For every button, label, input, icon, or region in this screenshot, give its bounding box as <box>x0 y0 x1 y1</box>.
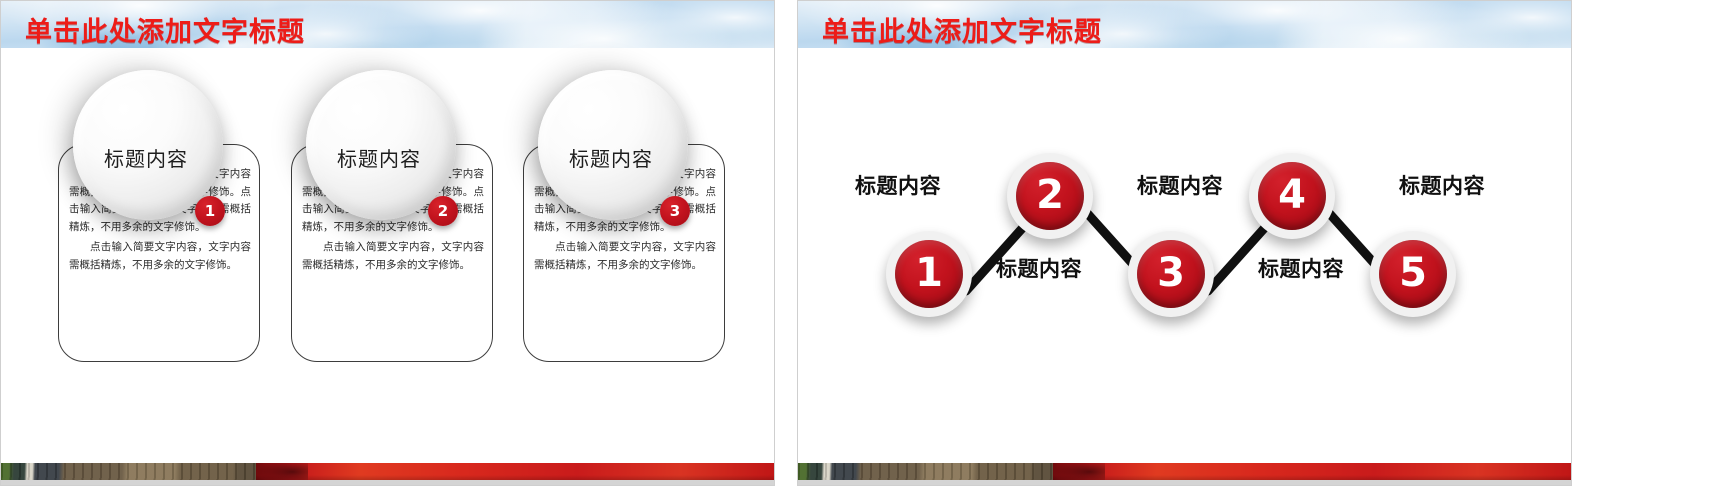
card-badge-3: 3 <box>660 196 690 226</box>
slide-footer-right <box>798 461 1571 485</box>
card-bubble-2[interactable]: 标题内容 <box>306 70 456 220</box>
step-label-4[interactable]: 标题内容 <box>1258 253 1344 283</box>
slide-header-right: 单击此处添加文字标题 <box>798 1 1571 48</box>
content-card-2[interactable]: 点击输入简要文字内容，文字内容需概括精炼，不用多余的文字修饰。点击输入简要文字内… <box>291 144 493 362</box>
step-node-3[interactable]: 3 <box>1128 231 1214 317</box>
card-bubble-3[interactable]: 标题内容 <box>538 70 688 220</box>
step-node-3-disc: 3 <box>1137 240 1205 308</box>
card-paragraph: 点击输入简要文字内容，文字内容需概括精炼，不用多余的文字修饰。 <box>534 239 716 274</box>
step-node-5-disc: 5 <box>1379 240 1447 308</box>
step-number: 1 <box>915 253 943 293</box>
card-badge-2: 2 <box>428 196 458 226</box>
step-node-1[interactable]: 1 <box>886 231 972 317</box>
footer-base-bar <box>798 480 1571 485</box>
content-card-1[interactable]: 点击输入简要文字内容，文字内容需概括精炼，不用多余的文字修饰。点击输入简要文字内… <box>58 144 260 362</box>
step-node-4[interactable]: 4 <box>1249 153 1335 239</box>
step-label-2[interactable]: 标题内容 <box>996 253 1082 283</box>
cards-row: 点击输入简要文字内容，文字内容需概括精炼，不用多余的文字修饰。点击输入简要文字内… <box>1 48 775 463</box>
footer-base-bar <box>1 480 774 485</box>
card-badge-number: 2 <box>438 202 448 220</box>
step-node-2[interactable]: 2 <box>1007 153 1093 239</box>
step-label-5[interactable]: 标题内容 <box>1399 170 1485 200</box>
step-number: 3 <box>1157 253 1185 293</box>
content-card-3[interactable]: 点击输入简要文字内容，文字内容需概括精炼，不用多余的文字修饰。点击输入简要文字内… <box>523 144 725 362</box>
slide-gap <box>775 0 797 490</box>
step-number: 4 <box>1278 175 1306 215</box>
slide-header-left: 单击此处添加文字标题 <box>1 1 774 48</box>
card-bubble-label: 标题内容 <box>569 143 653 172</box>
card-badge-number: 3 <box>670 202 680 220</box>
card-paragraph: 点击输入简要文字内容，文字内容需概括精炼，不用多余的文字修饰。 <box>69 239 251 274</box>
card-bubble-label: 标题内容 <box>337 143 421 172</box>
step-label-1[interactable]: 标题内容 <box>855 170 941 200</box>
card-paragraph: 点击输入简要文字内容，文字内容需概括精炼，不用多余的文字修饰。 <box>302 239 484 274</box>
page-title[interactable]: 单击此处添加文字标题 <box>25 10 305 48</box>
slide-right: 单击此处添加文字标题 1 2 <box>797 0 1572 486</box>
step-node-5[interactable]: 5 <box>1370 231 1456 317</box>
slide-left: 单击此处添加文字标题 点击输入简要文字内容，文字内容需概括精炼，不用多余的文字修… <box>0 0 775 486</box>
zigzag-diagram: 1 2 3 4 5 <box>798 48 1572 463</box>
slide-footer-left <box>1 461 774 485</box>
step-label-3[interactable]: 标题内容 <box>1137 170 1223 200</box>
card-bubble-label: 标题内容 <box>104 143 188 172</box>
step-number: 5 <box>1399 253 1427 293</box>
card-badge-number: 1 <box>205 202 215 220</box>
step-node-2-disc: 2 <box>1016 162 1084 230</box>
slide-deck: 单击此处添加文字标题 点击输入简要文字内容，文字内容需概括精炼，不用多余的文字修… <box>0 0 1720 490</box>
step-node-4-disc: 4 <box>1258 162 1326 230</box>
page-title[interactable]: 单击此处添加文字标题 <box>822 10 1102 48</box>
card-bubble-1[interactable]: 标题内容 <box>73 70 223 220</box>
step-node-1-disc: 1 <box>895 240 963 308</box>
step-number: 2 <box>1036 175 1064 215</box>
card-badge-1: 1 <box>195 196 225 226</box>
